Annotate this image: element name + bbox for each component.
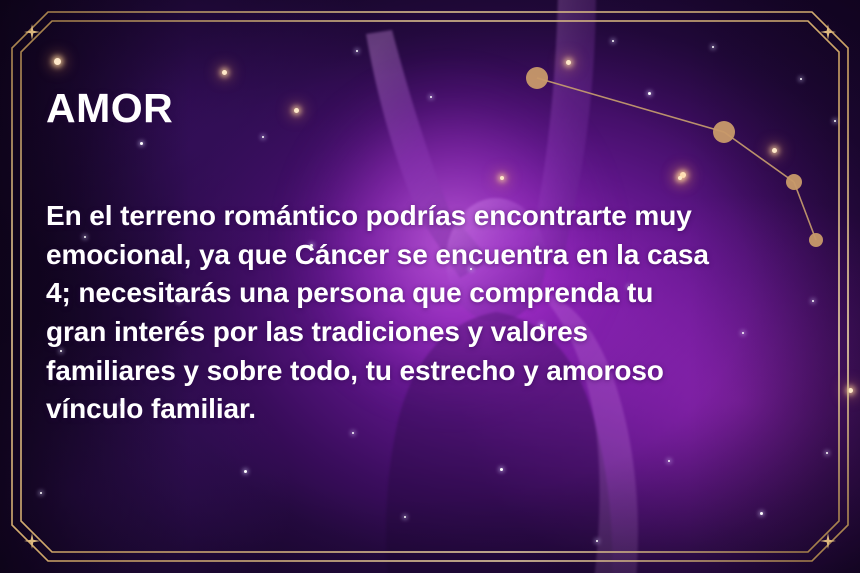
star bbox=[500, 468, 503, 471]
star bbox=[404, 516, 406, 518]
four-point-sparkle-icon bbox=[24, 533, 40, 549]
page-title: AMOR bbox=[46, 88, 846, 129]
star bbox=[244, 470, 247, 473]
star-glow bbox=[54, 58, 61, 65]
text-content: AMOR En el terreno romántico podrías enc… bbox=[46, 88, 846, 429]
body-line: 4; necesitarás una persona que comprenda… bbox=[46, 274, 836, 313]
body-line: gran interés por las tradiciones y valor… bbox=[46, 313, 836, 352]
star bbox=[356, 50, 358, 52]
body-line: En el terreno romántico podrías encontra… bbox=[46, 197, 836, 236]
four-point-sparkle-icon bbox=[820, 533, 836, 549]
star bbox=[612, 40, 614, 42]
four-point-sparkle-icon bbox=[820, 24, 836, 40]
star bbox=[826, 452, 828, 454]
star-glow bbox=[222, 70, 227, 75]
body-line: familiares y sobre todo, tu estrecho y a… bbox=[46, 352, 836, 391]
star bbox=[40, 492, 42, 494]
horoscope-card: AMOR En el terreno romántico podrías enc… bbox=[0, 0, 860, 573]
body-line: emocional, ya que Cáncer se encuentra en… bbox=[46, 236, 836, 275]
body-paragraph: En el terreno romántico podrías encontra… bbox=[46, 197, 836, 429]
star bbox=[668, 460, 670, 462]
star bbox=[800, 78, 802, 80]
star bbox=[712, 46, 714, 48]
four-point-sparkle-icon bbox=[24, 24, 40, 40]
star bbox=[760, 512, 763, 515]
star bbox=[596, 540, 598, 542]
star-glow bbox=[566, 60, 571, 65]
body-line: vínculo familiar. bbox=[46, 390, 836, 429]
star bbox=[352, 432, 354, 434]
star-glow bbox=[848, 388, 853, 393]
